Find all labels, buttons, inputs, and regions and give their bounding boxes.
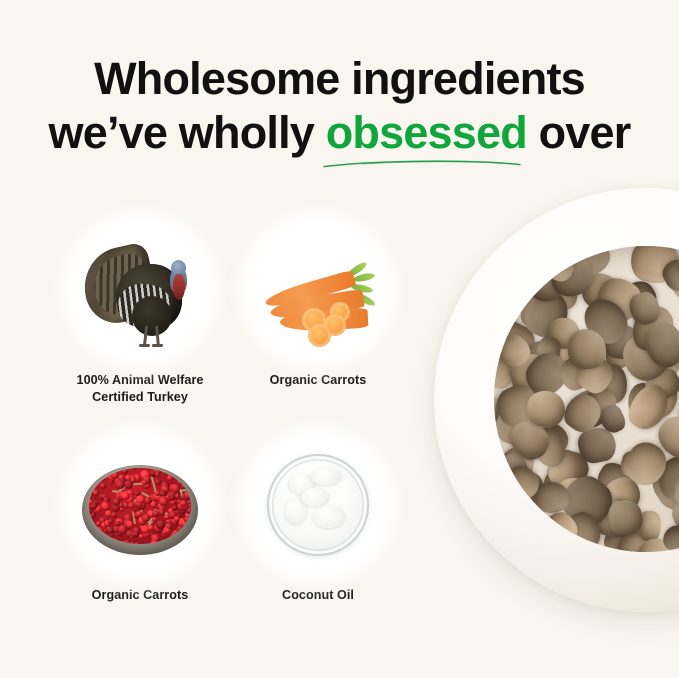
berries-bowl-icon bbox=[72, 437, 208, 573]
ingredient-label-coconut-oil: Coconut Oil bbox=[218, 587, 418, 604]
product-photo-kibble-bowl bbox=[396, 150, 679, 650]
turkey-icon bbox=[72, 222, 208, 358]
ceramic-bowl bbox=[434, 188, 679, 612]
ingredient-item-berries: Organic Carrots bbox=[40, 437, 240, 604]
kibble-pile bbox=[494, 246, 679, 552]
ingredient-circle-coconut-oil bbox=[250, 437, 386, 573]
ingredient-label-turkey: 100% Animal Welfare Certified Turkey bbox=[40, 372, 240, 406]
ingredient-item-carrots-top: Organic Carrots bbox=[218, 222, 418, 389]
ingredient-item-coconut-oil: Coconut Oil bbox=[218, 437, 418, 604]
bowl-interior bbox=[494, 246, 679, 552]
carrots-icon bbox=[250, 222, 386, 358]
headline-line-1: Wholesome ingredients bbox=[0, 52, 679, 106]
ingredient-circle-turkey bbox=[72, 222, 208, 358]
ingredient-label-carrots-top: Organic Carrots bbox=[218, 372, 418, 389]
ingredient-circle-berries bbox=[72, 437, 208, 573]
page-title: Wholesome ingredients we’ve wholly obses… bbox=[0, 52, 679, 160]
ingredient-item-turkey: 100% Animal Welfare Certified Turkey bbox=[40, 222, 240, 406]
coconut-oil-icon bbox=[250, 437, 386, 573]
headline-line-2-prefix: we’ve wholly bbox=[49, 107, 326, 158]
ingredient-circle-carrots-top bbox=[250, 222, 386, 358]
ingredient-label-berries: Organic Carrots bbox=[40, 587, 240, 604]
